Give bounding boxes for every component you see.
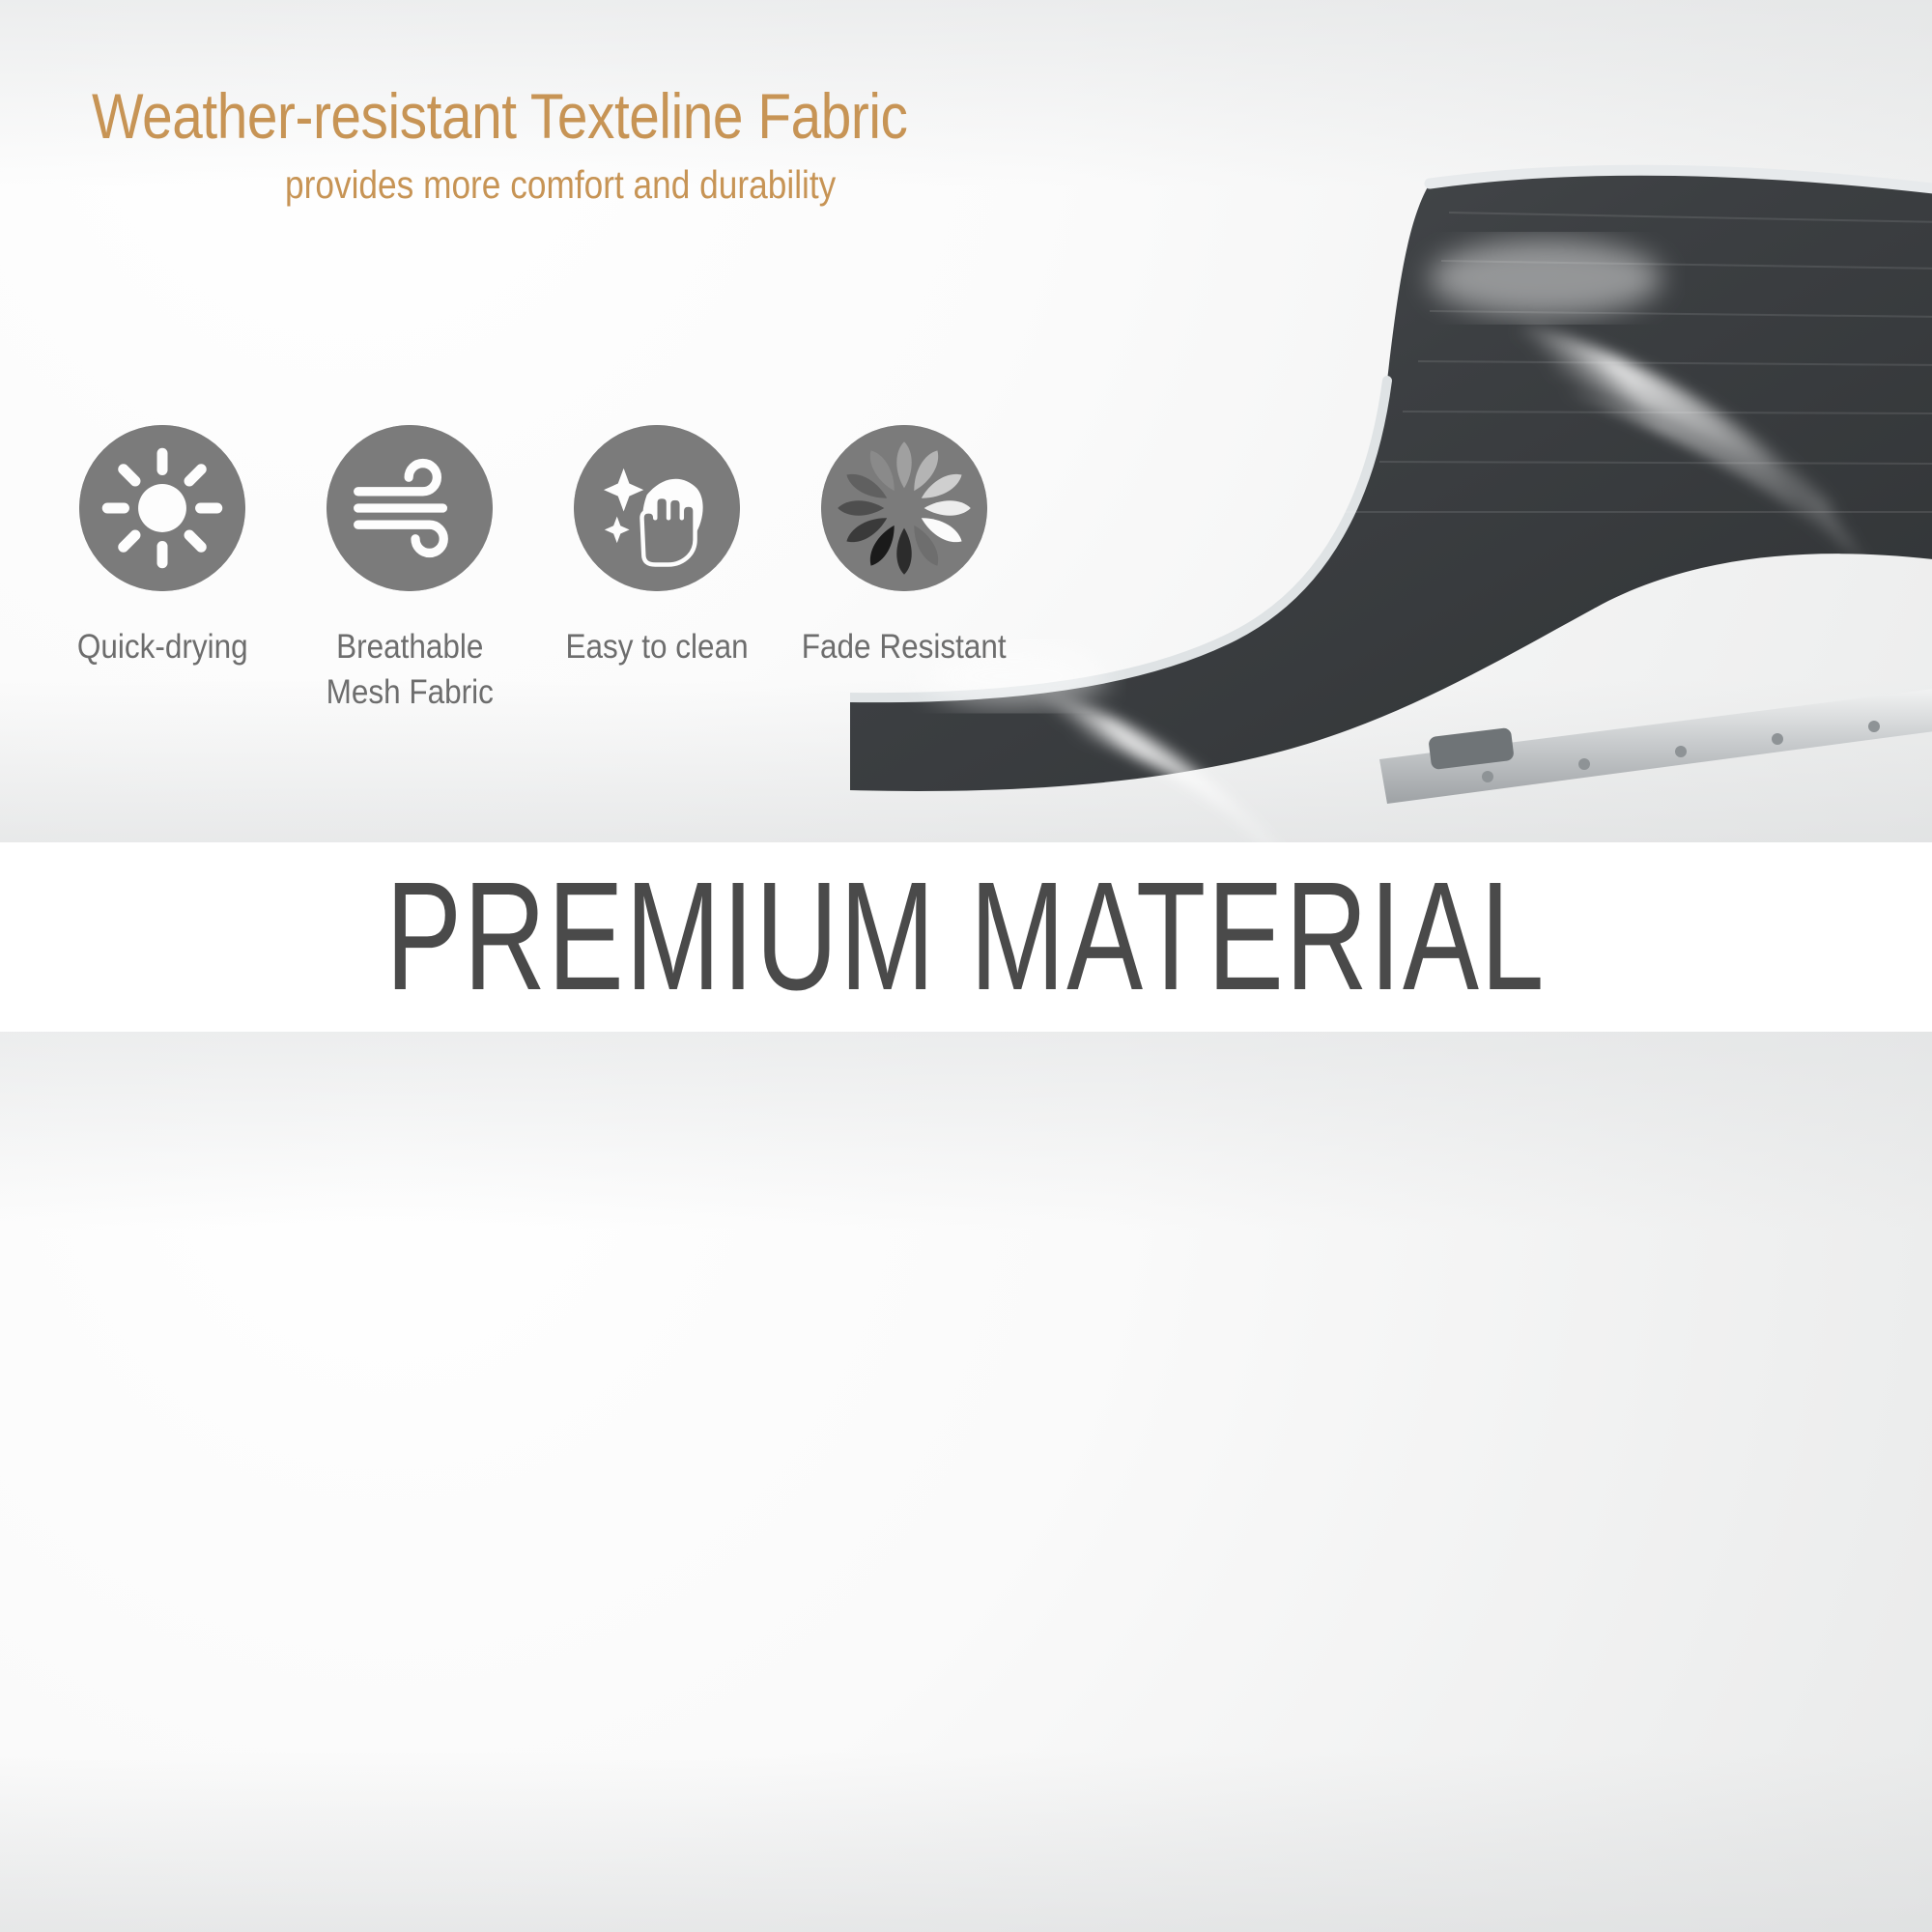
feature-label: Breathable Mesh Fabric [326, 624, 493, 716]
fabric-subline: provides more comfort and durability [285, 162, 836, 208]
wind-icon [327, 425, 493, 591]
fabric-headline: Weather-resistant Texteline Fabric [92, 79, 908, 153]
banner-title: PREMIUM MATERIAL [386, 860, 1547, 1014]
fabric-feature-row: Quick-drying Breathable Mesh Fabric [39, 425, 1028, 716]
premium-material-banner: PREMIUM MATERIAL [0, 842, 1932, 1032]
feature-label: Quick-drying [77, 624, 248, 669]
sun-icon [79, 425, 245, 591]
fabric-section: Weather-resistant Texteline Fabric provi… [0, 0, 1932, 850]
feature-label: Easy to clean [565, 624, 748, 669]
frame-rail-top-photo [1379, 688, 1932, 804]
hand-wipe-icon [574, 425, 740, 591]
color-fade-icon [821, 425, 987, 591]
airflow-cloud-upper [1430, 240, 1662, 317]
feature-label: Fade Resistant [802, 624, 1007, 669]
frame-section: Durable Aluminum Frame for easy carry an… [0, 1032, 1932, 1932]
feature-quick-drying: Quick-drying [39, 425, 286, 716]
feature-breathable-mesh: Breathable Mesh Fabric [286, 425, 533, 716]
feature-fade-resistant: Fade Resistant [781, 425, 1028, 716]
backdrop-vignette [0, 1032, 1932, 1932]
infographic-page: Weather-resistant Texteline Fabric provi… [0, 0, 1932, 1932]
feature-easy-to-clean: Easy to clean [533, 425, 781, 716]
